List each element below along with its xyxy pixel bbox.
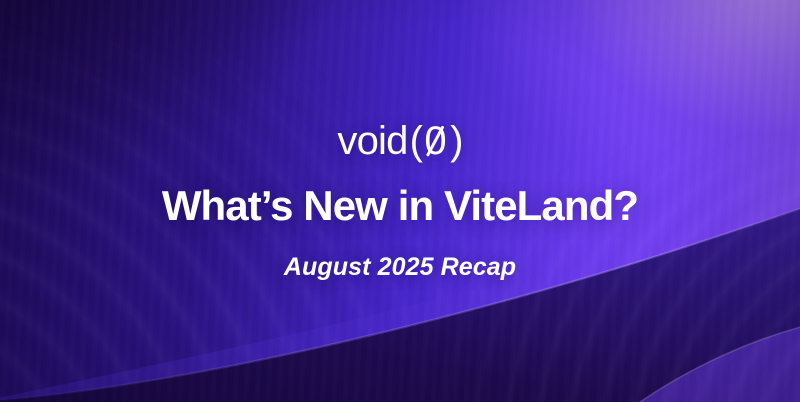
slashed-zero-icon: 0 [422, 121, 448, 161]
brand-logo-paren-close: ) [450, 121, 463, 161]
brand-logo-paren-open: ( [410, 121, 423, 161]
brand-logo: void ( 0 ) [337, 121, 462, 161]
banner-content: void ( 0 ) What’s New in ViteLand? Augus… [0, 0, 800, 402]
page-title: What’s New in ViteLand? [162, 183, 638, 228]
brand-logo-word: void [337, 121, 407, 161]
page-subtitle: August 2025 Recap [284, 254, 516, 282]
announcement-banner: void ( 0 ) What’s New in ViteLand? Augus… [0, 0, 800, 402]
